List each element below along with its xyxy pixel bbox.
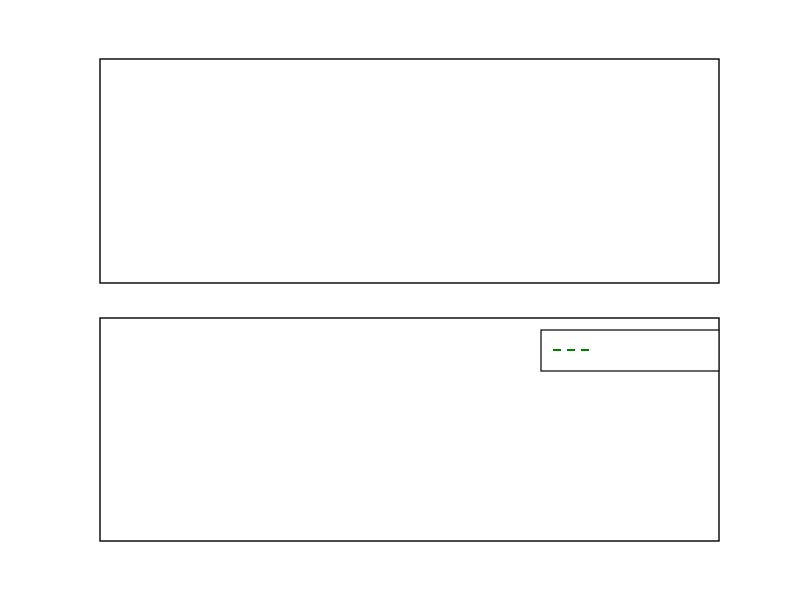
matplotlib-figure — [0, 0, 800, 600]
figure-background — [0, 0, 800, 600]
figure-canvas — [0, 0, 800, 600]
legend[interactable] — [541, 330, 719, 371]
